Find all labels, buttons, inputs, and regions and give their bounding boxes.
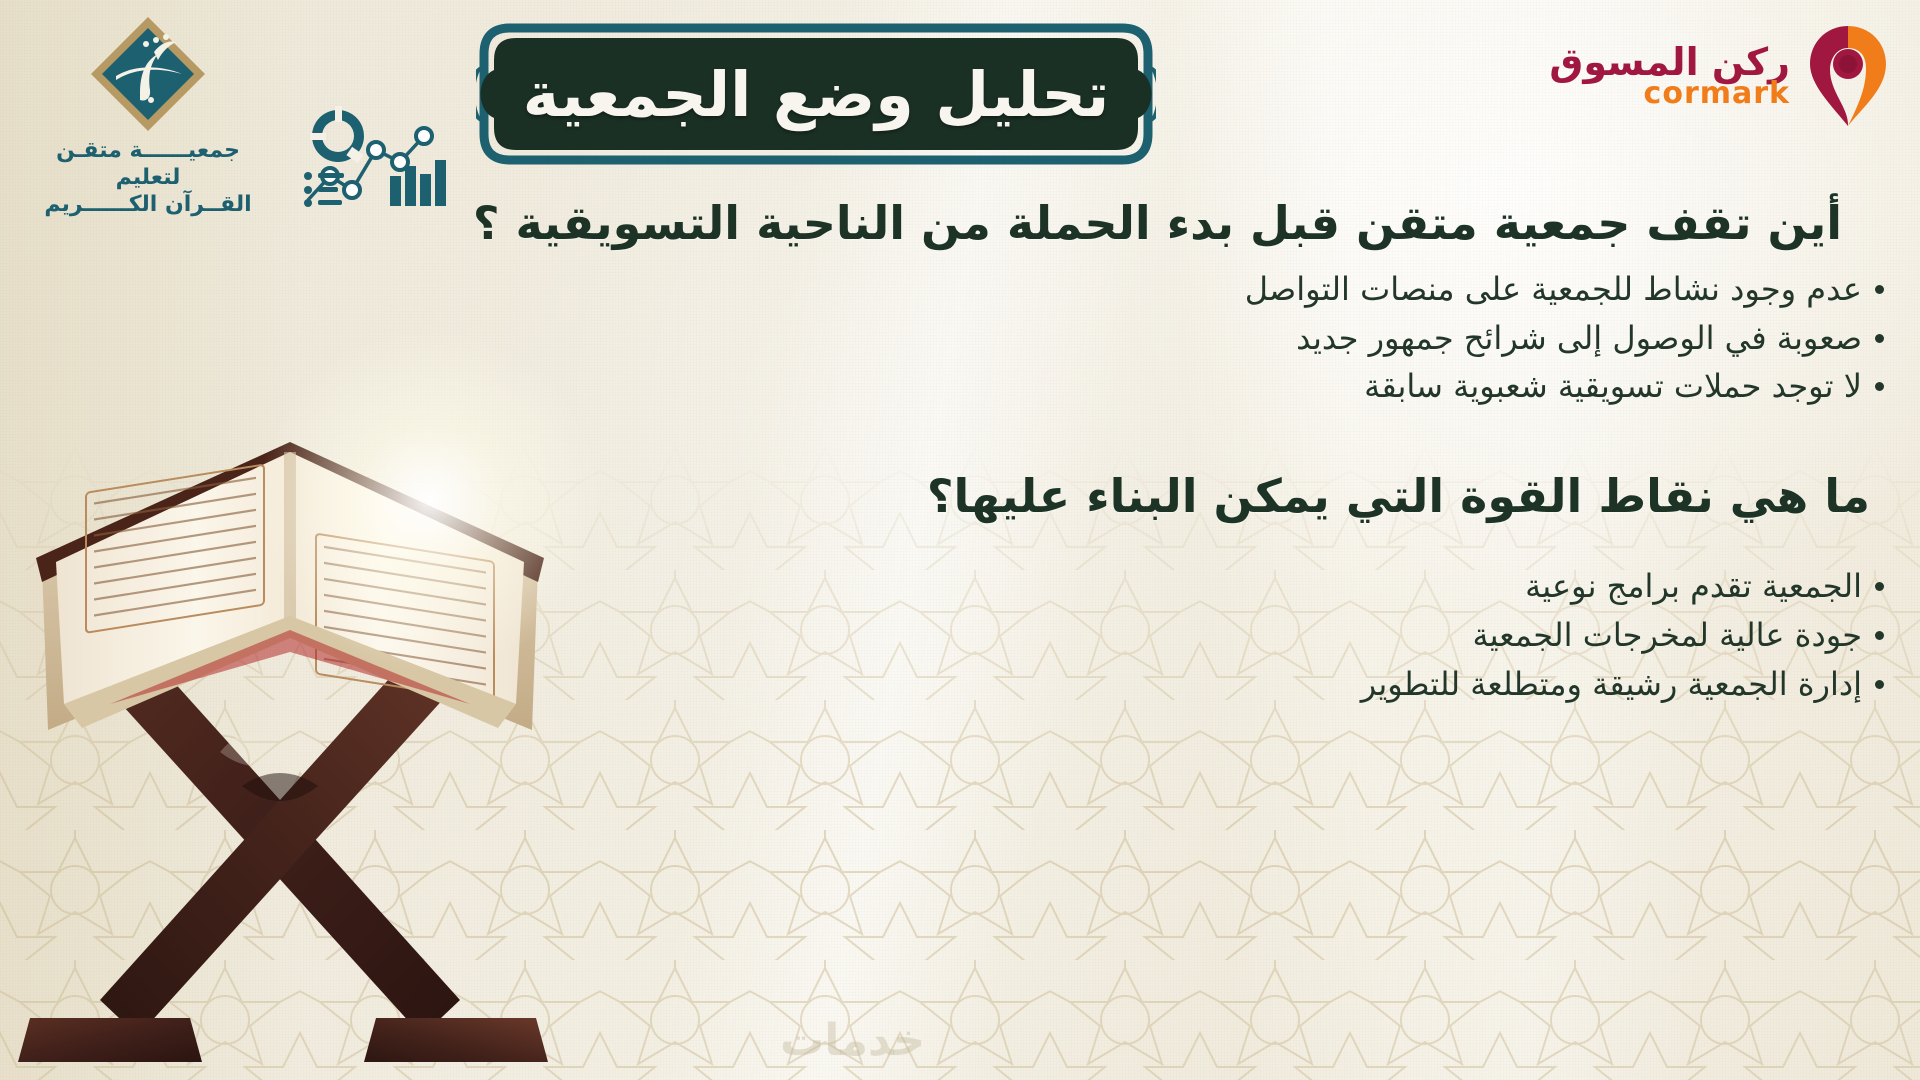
slide-title-banner: تحليل وضع الجمعية (476, 20, 1156, 168)
analytics-chart-icon (292, 104, 452, 208)
section-strengths: ما هي نقاط القوة التي يمكن البناء عليها؟… (320, 469, 1896, 708)
bullet-list-strengths: الجمعية تقدم برامج نوعية جودة عالية لمخر… (320, 562, 1896, 708)
bullet-item: إدارة الجمعية رشيقة ومتطلعة للتطوير (320, 660, 1896, 709)
association-logo-caption: جمعيــــــة متقـن لتعليم القــرآن الكـــ… (28, 138, 268, 218)
bullet-item: جودة عالية لمخرجات الجمعية (320, 611, 1896, 660)
slide-canvas: جمعيــــــة متقـن لتعليم القــرآن الكـــ… (0, 0, 1920, 1080)
heading-current-position: أين تقف جمعية متقن قبل بدء الحملة من الن… (320, 196, 1868, 251)
cormark-english-name: cormark (1644, 79, 1790, 109)
page-title: تحليل وضع الجمعية (476, 20, 1156, 168)
association-name-line-2: القــرآن الكــــــريم (28, 192, 268, 219)
association-logo: جمعيــــــة متقـن لتعليم القــرآن الكـــ… (28, 14, 268, 218)
watermark-text: خدمات (780, 1015, 925, 1066)
bullet-item: الجمعية تقدم برامج نوعية (320, 562, 1896, 611)
bullet-item: صعوبة في الوصول إلى شرائح جمهور جديد (320, 314, 1896, 363)
section-current-position: أين تقف جمعية متقن قبل بدء الحملة من الن… (320, 196, 1896, 411)
bullet-item: عدم وجود نشاط للجمعية على منصات التواصل (320, 265, 1896, 314)
bullet-item: لا توجد حملات تسويقية شعبوية سابقة (320, 362, 1896, 411)
bullet-list-current-position: عدم وجود نشاط للجمعية على منصات التواصل … (320, 265, 1896, 411)
cormark-logo: ركن المسوق cormark (1549, 22, 1896, 130)
association-name-line-1: جمعيــــــة متقـن لتعليم (56, 138, 240, 190)
location-pin-icon (1800, 22, 1896, 130)
heading-strengths: ما هي نقاط القوة التي يمكن البناء عليها؟ (320, 469, 1896, 524)
cormark-wordmark: ركن المسوق cormark (1549, 43, 1790, 109)
slide-content: أين تقف جمعية متقن قبل بدء الحملة من الن… (320, 196, 1920, 708)
motqen-diamond-emblem-icon (88, 14, 208, 134)
